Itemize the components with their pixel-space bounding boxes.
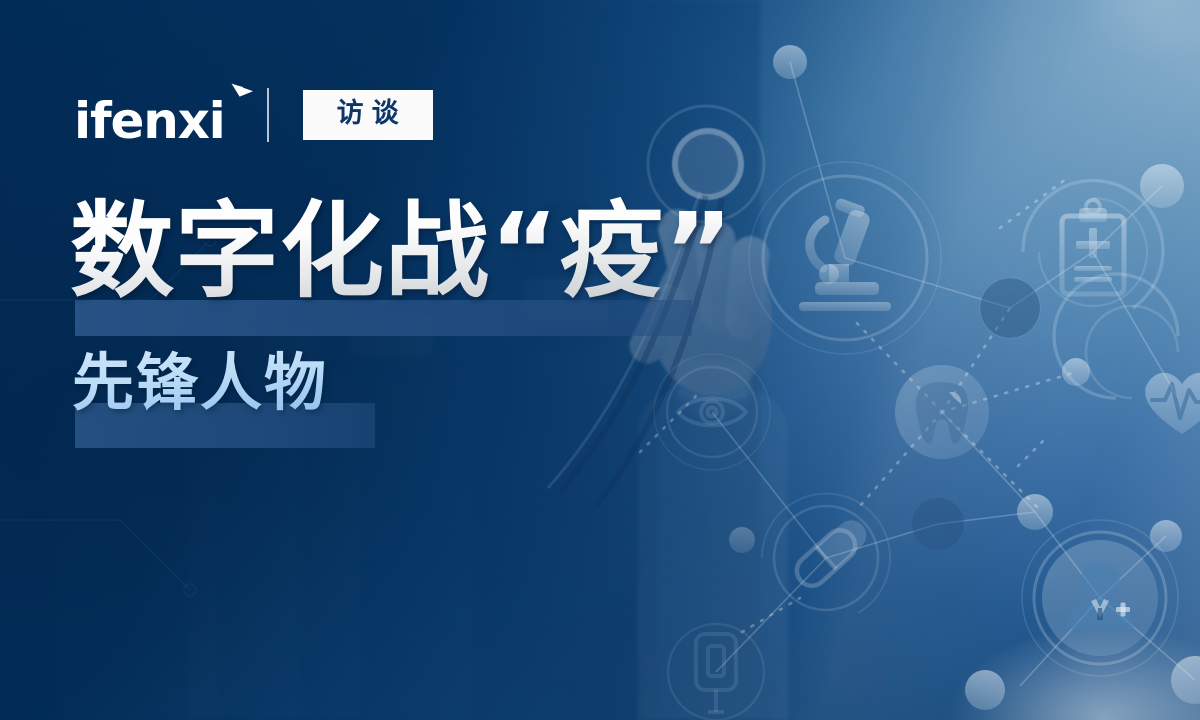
logo-text: ifenxi [74, 96, 227, 146]
page-subtitle: 先锋人物 [72, 344, 328, 422]
banner-root: ifenxi 访谈 数字化战“疫” 先锋人物 [0, 0, 1200, 720]
logo[interactable]: ifenxi [74, 84, 227, 146]
subtitle-block: 先锋人物 [0, 344, 1200, 464]
headline-block: 数字化战“疫” [0, 186, 1200, 346]
brand-row: ifenxi 访谈 [74, 84, 433, 146]
category-badge[interactable]: 访谈 [303, 90, 433, 140]
vertical-divider-icon [267, 88, 269, 142]
page-title: 数字化战“疫” [70, 186, 734, 316]
banner-content: ifenxi 访谈 数字化战“疫” 先锋人物 [0, 0, 1200, 720]
